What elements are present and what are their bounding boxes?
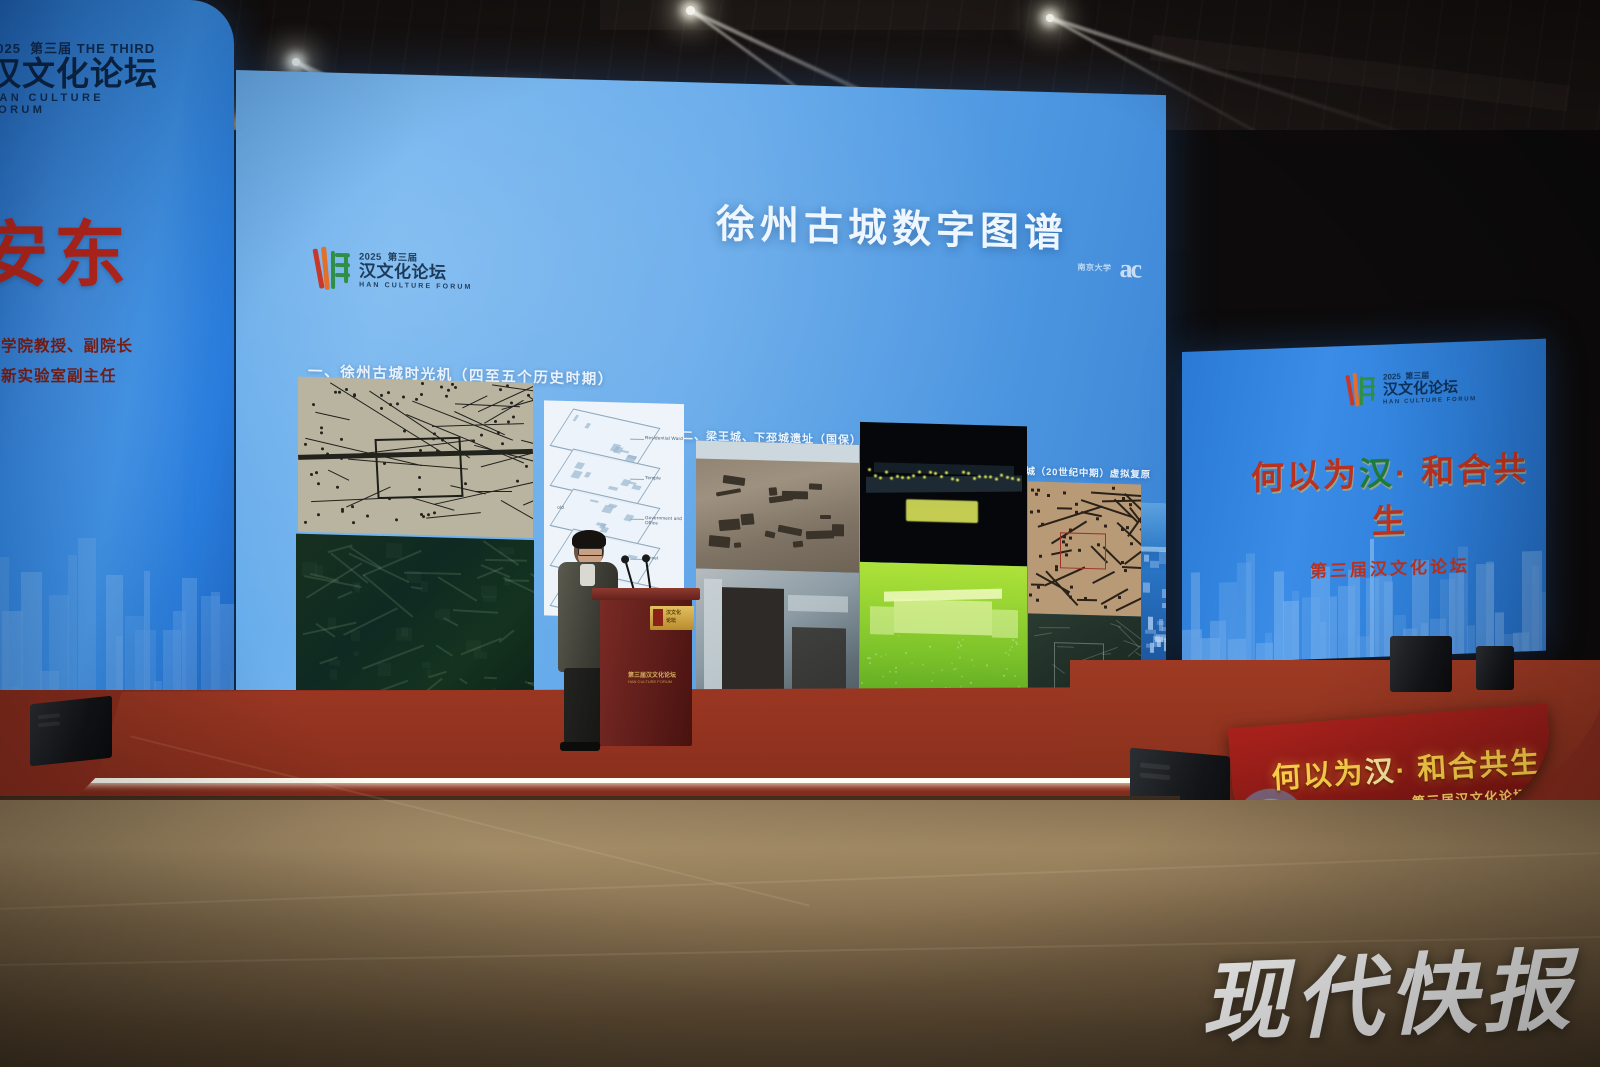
skyline-building (1541, 591, 1546, 651)
map-marker (396, 402, 399, 405)
credentials-line-2: 智创新实验室副主任 (0, 362, 183, 392)
lidar-point (986, 665, 988, 667)
lidar-point (1012, 639, 1014, 641)
map-marker (440, 385, 443, 388)
satellite-street (411, 586, 422, 589)
slide-forum-logo: 2025 第三届 汉文化论坛 HAN CULTURE FORUM (314, 245, 473, 294)
map-marker (464, 482, 467, 485)
podium-front-line-2: HAN CULTURE FORUM (628, 679, 684, 684)
left-screen-forum-logo: 2025 第三届 THE THIRD 汉文化论坛 HAN CULTURE FOR… (0, 38, 158, 116)
left-screen-speaker-name: 安东 (0, 196, 132, 301)
right-screen-forum-logo: 2025 第三届 汉文化论坛 HAN CULTURE FORUM (1347, 367, 1477, 408)
satellite-block (328, 618, 336, 630)
map-marker (341, 508, 344, 511)
lidar-point (1006, 667, 1008, 669)
layer-feature (573, 415, 579, 421)
lidar-point (875, 653, 877, 655)
layer-feature (608, 486, 619, 491)
map-road (1081, 511, 1102, 517)
satellite-street (338, 591, 353, 599)
skyline-building (1265, 633, 1272, 661)
satellite-block (474, 652, 487, 659)
map-marker (1129, 503, 1132, 506)
map-marker (1130, 543, 1133, 546)
map-marker (510, 401, 513, 404)
left-screen-credentials: 规划学院教授、副院长 智创新实验室副主任 (0, 332, 183, 392)
satellite-street (453, 609, 498, 613)
satellite-block (330, 670, 338, 680)
satellite-block (329, 659, 340, 666)
lidar-point (867, 657, 869, 659)
lidar-point (880, 655, 882, 657)
satellite-block (355, 583, 360, 592)
lidar-point (959, 656, 961, 658)
map-marker (1104, 605, 1107, 608)
city-building (1157, 640, 1161, 647)
map-marker (1070, 585, 1073, 588)
lidar-point (962, 638, 964, 640)
lidar-point (961, 675, 963, 677)
map-road (315, 411, 350, 420)
map-marker (1126, 526, 1129, 529)
han-character-mark-icon (1347, 371, 1377, 408)
map-marker (1075, 510, 1078, 513)
excavation-pit (741, 513, 755, 525)
map-marker (1075, 502, 1078, 505)
lidar-point (898, 635, 900, 637)
map-marker (433, 433, 436, 436)
city-building (1143, 583, 1150, 593)
map-marker (1031, 489, 1034, 492)
city-building (1150, 561, 1159, 568)
map-marker (1035, 493, 1038, 496)
map-marker (353, 393, 356, 396)
satellite-street (459, 678, 468, 684)
pointcloud-building (894, 599, 992, 636)
city-building (1146, 644, 1150, 648)
map-marker (447, 389, 450, 392)
map-marker (472, 440, 475, 443)
lidar-point (874, 474, 877, 477)
lidar-point (885, 654, 887, 656)
map-marker (1084, 597, 1087, 600)
layer-feature (570, 471, 583, 479)
right-led-screen: 2025 第三届 汉文化论坛 HAN CULTURE FORUM 何以为汉· 和… (1182, 339, 1546, 664)
map-marker (304, 521, 307, 524)
lidar-point (911, 663, 913, 665)
city-building (1144, 554, 1149, 562)
skyline-building (1467, 625, 1475, 654)
lidar-point (922, 664, 924, 666)
map-marker (380, 406, 383, 409)
map-marker (1118, 595, 1121, 598)
map-road (462, 395, 487, 408)
lidar-point (889, 671, 891, 673)
lidar-point (905, 652, 907, 654)
map-marker (380, 394, 383, 397)
satellite-block (499, 547, 514, 555)
map-marker (507, 421, 510, 424)
map-marker (525, 465, 528, 468)
map-road (1057, 507, 1072, 509)
satellite-block (407, 571, 420, 583)
satellite-street (484, 677, 497, 679)
slide-logo-en: HAN CULTURE FORUM (359, 281, 472, 290)
map-marker (312, 403, 315, 406)
skyline-building (1329, 596, 1337, 658)
excavation-pit (722, 475, 745, 486)
lidar-point (895, 682, 897, 684)
map-road (1101, 588, 1128, 604)
lidar-point (895, 671, 897, 673)
map-marker (427, 513, 430, 516)
map-marker (1124, 569, 1127, 572)
lidar-point (1000, 473, 1003, 476)
excavation-pit (715, 488, 741, 497)
pointcloud-wing (870, 606, 894, 635)
lidar-point (970, 681, 972, 683)
lidar-point (958, 642, 960, 644)
map-marker (420, 393, 423, 396)
map-marker (320, 431, 323, 434)
lidar-point (929, 471, 932, 474)
map-marker (338, 391, 341, 394)
satellite-block (422, 662, 431, 668)
city-building (1162, 589, 1166, 599)
excavation-edge (788, 595, 848, 613)
satellite-street (1034, 633, 1052, 637)
lidar-point (956, 478, 959, 481)
lidar-point (1014, 675, 1016, 677)
podium-plate-text: 汉文化 论坛 (666, 610, 681, 625)
diagram-layer-label: Temple (645, 475, 683, 481)
map-marker (512, 416, 515, 419)
map-marker (387, 391, 390, 394)
map-marker (351, 505, 354, 508)
map-marker (499, 388, 502, 391)
city-building (1159, 551, 1166, 564)
university-logo: 南京大学 (1077, 263, 1111, 274)
satellite-street (436, 644, 453, 656)
lidar-point (885, 470, 888, 473)
map-road (1091, 491, 1141, 498)
satellite-block (439, 608, 450, 620)
speaker-cabinet-far-right (1390, 636, 1452, 692)
site-horizon (696, 440, 859, 462)
temple-lit-bay (906, 499, 978, 523)
map-marker (433, 511, 436, 514)
map-marker (1030, 511, 1033, 514)
main-led-screen: 2025 第三届 汉文化论坛 HAN CULTURE FORUM 徐州古城数字图… (236, 70, 1166, 735)
map-marker (494, 419, 497, 422)
map-marker (366, 514, 369, 517)
slogan-part-2: · 和合共生 (1372, 449, 1529, 540)
diagram-layer-label: Government and Office (645, 515, 683, 526)
map-marker (345, 388, 348, 391)
map-marker (336, 486, 339, 489)
lidar-point (989, 475, 992, 478)
excavation-pit (793, 541, 803, 548)
excavation-pit (806, 530, 834, 539)
lidar-point (960, 685, 962, 687)
lidar-point (912, 474, 915, 477)
map-road (1092, 571, 1115, 584)
lidar-point (929, 646, 931, 648)
lab-logo: ac (1119, 254, 1140, 285)
map-marker (1078, 549, 1081, 552)
lidar-point (960, 645, 962, 647)
map-marker (420, 513, 423, 516)
map-marker (1104, 524, 1107, 527)
map-marker (1121, 561, 1124, 564)
satellite-block (315, 565, 324, 578)
lidar-point (879, 476, 882, 479)
right-screen-slogan: 何以为汉· 和合共生 (1240, 441, 1540, 548)
map-marker (320, 426, 323, 429)
lidar-point (1009, 649, 1011, 651)
city-wall-outline (374, 437, 463, 499)
map-road (328, 470, 350, 482)
lidar-point (895, 667, 897, 669)
front-slogan-part-1: 何以为 (1271, 757, 1366, 795)
satellite-block (354, 651, 359, 656)
left-logo-year: 2025 (0, 41, 21, 56)
layer-feature (584, 471, 591, 477)
lidar-point (973, 665, 975, 667)
lidar-point (896, 475, 899, 478)
satellite-block (466, 640, 481, 651)
podium-top (592, 588, 700, 600)
excavation-pit (764, 530, 775, 538)
diagram-side-label: old (544, 504, 564, 510)
layer-feature (624, 514, 635, 521)
city-building (1148, 617, 1153, 629)
podium-plate-line-2: 论坛 (666, 618, 681, 626)
excavation-pit (809, 484, 822, 491)
lidar-point (907, 476, 910, 479)
map-marker (304, 443, 307, 446)
map-road (501, 500, 533, 533)
map-marker (1065, 554, 1068, 557)
left-led-screen: 2025 第三届 THE THIRD 汉文化论坛 HAN CULTURE FOR… (0, 0, 234, 752)
lidar-point (1011, 646, 1013, 648)
lidar-point (869, 662, 871, 664)
map-marker (1097, 543, 1100, 546)
speaker-hair (572, 530, 606, 549)
map-marker (1069, 528, 1072, 531)
left-logo-name: 汉文化论坛 (0, 57, 158, 92)
slide-logo-name: 汉文化论坛 (359, 263, 472, 284)
lidar-point (882, 675, 884, 677)
map-marker (1029, 593, 1032, 596)
map-marker (445, 395, 448, 398)
highlighted-area (1060, 532, 1106, 569)
satellite-street (485, 559, 527, 561)
lidar-point (962, 471, 965, 474)
excavation-pit (734, 542, 742, 548)
diagram-layer-label: Residential Ward (645, 435, 683, 441)
city-building (1162, 603, 1166, 609)
podium: 汉文化 论坛 第三届汉文化论坛 HAN CULTURE FORUM (600, 588, 692, 746)
map-marker (340, 437, 343, 440)
front-slogan-part-2: · 和合共生 (1395, 747, 1542, 788)
skyline-building (1320, 622, 1326, 659)
layer-feature (584, 423, 591, 429)
lidar-point (934, 472, 937, 475)
fengxian-historic-map-panel (1028, 481, 1141, 616)
watermark: 现代快报 (1198, 919, 1578, 1059)
map-marker (421, 382, 424, 385)
map-road (411, 497, 455, 511)
map-marker (1065, 543, 1068, 546)
podium-han-mark-icon (653, 609, 663, 626)
map-road (484, 400, 524, 424)
map-marker (1066, 592, 1069, 595)
skyline-building (1292, 591, 1299, 660)
excavation-aerial-photo-panel (696, 440, 859, 572)
map-marker (1036, 599, 1039, 602)
podium-plate-line-1: 汉文化 (666, 610, 681, 618)
historic-city-map-panel (298, 377, 533, 538)
front-slogan-han: 汉 (1364, 756, 1397, 790)
map-marker (1037, 489, 1040, 492)
map-marker (1063, 491, 1066, 494)
satellite-street (437, 576, 477, 601)
excavation-pit (778, 524, 803, 535)
excavation-pit (709, 535, 730, 548)
satellite-block (483, 596, 496, 602)
lidar-temple-night-panel (860, 422, 1027, 567)
map-marker (402, 396, 405, 399)
city-building (1164, 638, 1166, 651)
map-marker (1122, 497, 1125, 500)
lidar-point (861, 682, 863, 684)
map-road (523, 494, 533, 506)
excavation-wall (722, 587, 784, 697)
podium-logo-plate: 汉文化 论坛 (650, 606, 694, 630)
map-marker (1121, 528, 1124, 531)
lidar-point (978, 475, 981, 478)
map-marker (395, 519, 398, 522)
map-marker (334, 391, 337, 394)
lidar-point (931, 680, 933, 682)
lidar-point (901, 476, 904, 479)
lidar-point (1008, 654, 1010, 656)
map-marker (1039, 555, 1042, 558)
screenshot-root: 第三届汉文化论坛 2025 第三届 THE THIRD 汉文化论坛 HAN CU… (0, 0, 1600, 1067)
map-marker (315, 471, 318, 474)
lidar-point (1017, 478, 1020, 481)
excavation-pit (820, 515, 831, 519)
ceiling-panel (600, 0, 1020, 30)
map-marker (317, 482, 320, 485)
left-logo-en: HAN CULTURE FORUM (0, 92, 158, 116)
pointcloud-wing (992, 609, 1018, 638)
map-road (529, 396, 533, 448)
lidar-point (932, 671, 934, 673)
map-marker (415, 398, 418, 401)
slogan-han-character: 汉 (1359, 454, 1395, 492)
map-marker (1063, 536, 1066, 539)
stage-monitor-left (30, 696, 112, 767)
satellite-block (504, 576, 510, 585)
map-marker (1069, 537, 1072, 540)
lidar-point (957, 647, 959, 649)
temple-ridge (874, 462, 1014, 476)
map-marker (352, 522, 355, 525)
map-marker (527, 394, 530, 397)
excavation-pit (768, 487, 777, 496)
city-building (1150, 643, 1154, 653)
map-marker (403, 429, 406, 432)
map-marker (1055, 568, 1058, 571)
map-marker (1069, 596, 1072, 599)
map-marker (1041, 523, 1044, 526)
satellite-street (362, 645, 423, 670)
lidar-point (967, 472, 970, 475)
slide-title: 徐州古城数字图谱 (716, 193, 1068, 259)
lidar-point (868, 468, 871, 471)
podium-front-line-1: 第三届汉文化论坛 (628, 670, 684, 679)
map-marker (389, 403, 392, 406)
city-building (1159, 619, 1163, 631)
excavation-pit (782, 491, 808, 500)
lidar-point (945, 471, 948, 474)
lidar-point (973, 477, 976, 480)
lidar-point (941, 669, 943, 671)
satellite-block (351, 630, 360, 641)
map-marker (454, 385, 457, 388)
satellite-street (429, 670, 448, 677)
map-marker (1112, 487, 1115, 490)
slide-institution-logos: 南京大学 ac (1077, 253, 1140, 285)
lidar-point (951, 662, 953, 664)
satellite-block (401, 628, 408, 637)
map-marker (310, 473, 313, 476)
lidar-point (955, 668, 957, 670)
lidar-point (953, 668, 955, 670)
lidar-point (1006, 476, 1009, 479)
lidar-point (1005, 652, 1007, 654)
credentials-line-1: 规划学院教授、副院长 (0, 332, 183, 362)
satellite-block (386, 543, 402, 559)
lidar-point (1016, 643, 1018, 645)
right-screen-slogan-block: 何以为汉· 和合共生 第三届汉文化论坛 (1240, 441, 1540, 585)
diagram-layer-label: Street (645, 555, 683, 561)
speaker-shoes (560, 742, 600, 751)
map-marker (317, 513, 320, 516)
speaker-shirt (580, 564, 595, 586)
satellite-street (499, 630, 514, 643)
satellite-block (378, 662, 391, 676)
satellite-aerial-photo-panel (296, 534, 534, 713)
map-marker (422, 515, 425, 518)
speaker-glasses (578, 548, 603, 556)
layer-feature (590, 499, 599, 503)
podium-front-text: 第三届汉文化论坛 HAN CULTURE FORUM (628, 670, 684, 684)
map-marker (321, 447, 324, 450)
satellite-block (427, 669, 432, 677)
lidar-point (890, 476, 893, 479)
layer-feature (574, 461, 585, 468)
satellite-block (421, 581, 427, 592)
lidar-point (1011, 477, 1014, 480)
map-marker (1037, 509, 1040, 512)
left-logo-edition: 第三届 THE THIRD (30, 41, 155, 56)
skyline-building (1191, 572, 1200, 663)
excavation-pit (718, 518, 740, 531)
lidar-point (951, 477, 954, 480)
